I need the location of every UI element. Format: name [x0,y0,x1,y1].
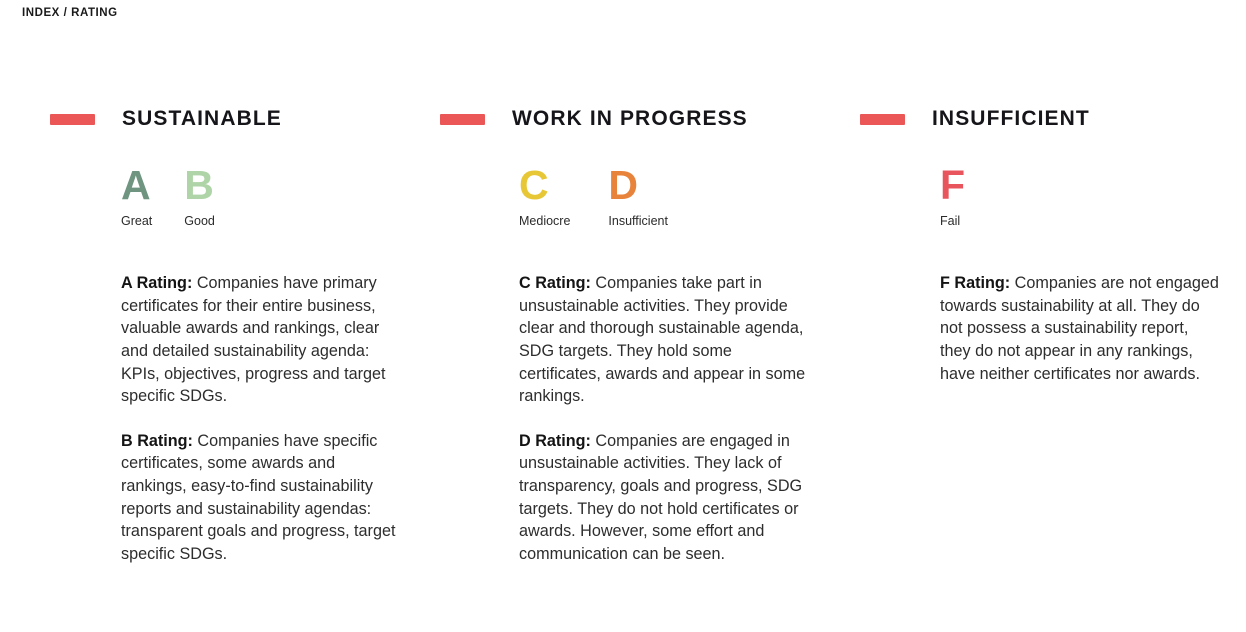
rating-description-label: D Rating: [519,432,591,450]
description-list: C Rating: Companies take part in unsusta… [440,272,815,565]
section-header: SUSTAINABLE [50,104,405,134]
rating-description-text: Companies are engaged in unsustainable a… [519,432,802,563]
description-list: F Rating: Companies are not engaged towa… [860,272,1246,385]
rating-description-label: B Rating: [121,432,193,450]
section-title: WORK IN PROGRESS [512,107,748,131]
rating-column: SUSTAINABLEAGreatBGoodA Rating: Companie… [0,104,405,582]
rating-column: WORK IN PROGRESSCMediocreDInsufficientC … [405,104,815,582]
dash-icon [440,114,485,125]
rating-description: A Rating: Companies have primary certifi… [121,272,405,408]
grade-caption: Insufficient [608,214,668,228]
grade-caption: Fail [940,214,960,228]
rating-description: B Rating: Companies have specific certif… [121,430,405,566]
section-header: WORK IN PROGRESS [440,104,815,134]
grade-letter: F [940,168,965,203]
grade-letter: D [608,168,638,203]
grade-list: FFail [860,168,1246,228]
grade-letter: C [519,168,549,203]
dash-icon [860,114,905,125]
rating-description: C Rating: Companies take part in unsusta… [519,272,815,408]
rating-description-text: Companies take part in unsustainable act… [519,274,805,405]
grade-list: CMediocreDInsufficient [440,168,815,228]
grade-list: AGreatBGood [50,168,405,228]
section-title: SUSTAINABLE [122,107,282,131]
rating-description-label: A Rating: [121,274,192,292]
dash-icon [50,114,95,125]
grade-caption: Great [121,214,152,228]
rating-description: F Rating: Companies are not engaged towa… [940,272,1222,385]
rating-column: INSUFFICIENTFFailF Rating: Companies are… [815,104,1246,401]
breadcrumb: INDEX / RATING [22,7,118,19]
grade-item: AGreat [121,168,152,228]
rating-legend-columns: SUSTAINABLEAGreatBGoodA Rating: Companie… [0,104,1246,582]
section-title: INSUFFICIENT [932,107,1090,131]
rating-description-label: F Rating: [940,274,1010,292]
grade-item: BGood [184,168,215,228]
grade-letter: A [121,168,151,203]
grade-letter: B [184,168,214,203]
grade-caption: Good [184,214,215,228]
description-list: A Rating: Companies have primary certifi… [50,272,405,565]
grade-item: FFail [940,168,965,228]
rating-description-text: Companies have primary certificates for … [121,274,386,405]
section-header: INSUFFICIENT [860,104,1246,134]
grade-item: DInsufficient [608,168,668,228]
grade-item: CMediocre [519,168,570,228]
rating-description-text: Companies have specific certificates, so… [121,432,395,563]
grade-caption: Mediocre [519,214,570,228]
rating-description: D Rating: Companies are engaged in unsus… [519,430,815,566]
rating-description-label: C Rating: [519,274,591,292]
